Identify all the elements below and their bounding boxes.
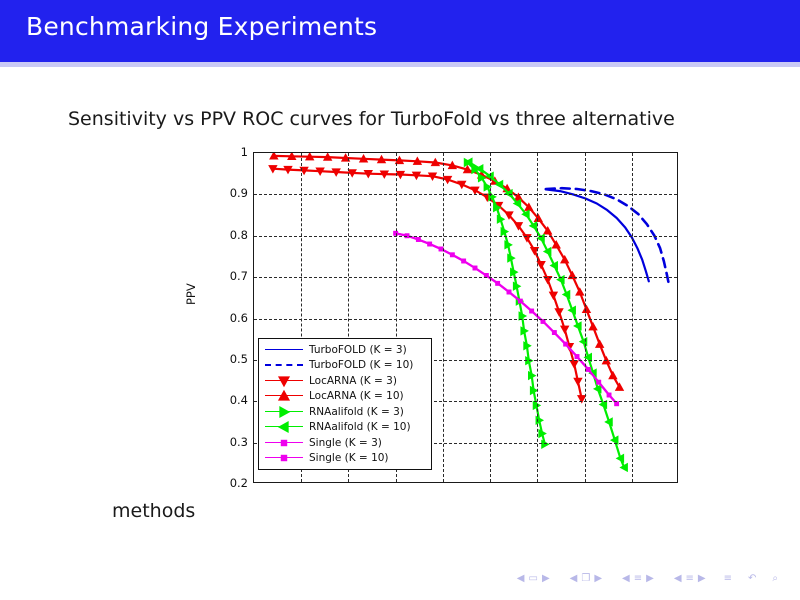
series-marker: [564, 342, 568, 346]
series-marker: [496, 281, 500, 285]
y-tick-label: 0.9: [230, 186, 248, 200]
beamer-navigation-bar[interactable]: ◀▭▶◀❐▶◀≡▶◀≡▶≡↶⌕: [0, 568, 800, 590]
series-marker: [542, 440, 550, 448]
section-nav-next-icon[interactable]: ▶: [698, 574, 706, 584]
series-rnaalifold-k-10: [465, 158, 628, 472]
legend-line: [265, 349, 303, 350]
series-marker: [576, 288, 584, 296]
frame-nav-prev-icon[interactable]: ◀: [570, 574, 578, 584]
legend-item[interactable]: Single (K = 3): [263, 435, 427, 451]
series-marker: [450, 253, 454, 257]
y-axis-tick-labels: 0.20.30.40.50.60.70.80.91: [212, 152, 248, 483]
nav-group-slide-nav[interactable]: ◀▭▶: [515, 574, 552, 584]
y-tick-label: 0.7: [230, 269, 248, 283]
legend-item[interactable]: TurboFOLD (K = 3): [263, 342, 427, 358]
slide-nav-next-icon[interactable]: ▶: [542, 574, 550, 584]
legend-item[interactable]: TurboFOLD (K = 10): [263, 358, 427, 374]
series-marker: [589, 323, 597, 331]
y-tick-label: 0.4: [230, 393, 248, 407]
series-turbofold-k-3: [546, 189, 649, 281]
chart-legend[interactable]: TurboFOLD (K = 3)TurboFOLD (K = 10)LocAR…: [258, 338, 432, 470]
series-marker: [537, 261, 545, 269]
series-marker: [570, 361, 578, 369]
series-marker: [602, 357, 610, 365]
search-icon[interactable]: ⌕: [772, 574, 778, 584]
slide-header-bar: Benchmarking Experiments: [0, 0, 800, 62]
legend-label: LocARNA (K = 3): [309, 376, 397, 387]
nav-group-section-nav[interactable]: ◀≡▶: [672, 574, 708, 584]
series-marker: [537, 234, 545, 242]
series-marker: [394, 231, 398, 235]
series-marker: [439, 247, 443, 251]
series-marker: [552, 330, 556, 334]
y-tick-label: 0.5: [230, 352, 248, 366]
series-marker: [541, 319, 545, 323]
legend-swatch: [263, 389, 305, 403]
series-marker: [555, 309, 563, 317]
y-tick-label: 0.6: [230, 311, 248, 325]
subsection-nav-next-icon[interactable]: ▶: [646, 574, 654, 584]
series-line: [469, 162, 624, 467]
series-line: [546, 189, 649, 281]
legend-item[interactable]: Single (K = 10): [263, 451, 427, 467]
legend-swatch: [263, 358, 305, 372]
legend-item[interactable]: LocARNA (K = 10): [263, 389, 427, 405]
legend-item[interactable]: RNAalifold (K = 3): [263, 404, 427, 420]
legend-swatch: [263, 374, 305, 388]
subsection-nav-glyph-icon: ≡: [634, 574, 642, 584]
series-rnaalifold-k-3: [464, 158, 549, 448]
legend-label: Single (K = 10): [309, 453, 389, 464]
legend-marker-triangle-up-icon: [277, 389, 291, 403]
series-marker: [544, 276, 552, 284]
presentation-slide: Benchmarking Experiments Sensitivity vs …: [0, 0, 800, 600]
legend-marker-triangle-down-icon: [277, 374, 291, 388]
legend-line: [265, 364, 303, 366]
series-marker: [615, 402, 619, 406]
legend-marker-square-icon: [277, 451, 291, 465]
series-turbofold-k-10: [546, 188, 669, 283]
legend-item[interactable]: LocARNA (K = 3): [263, 373, 427, 389]
series-line: [546, 188, 669, 283]
figure-title-line2: methods: [112, 500, 195, 522]
y-tick-label: 1: [241, 145, 248, 159]
back-icon[interactable]: ↶: [748, 574, 756, 584]
frame-nav-glyph-icon: ❐: [581, 574, 590, 584]
legend-swatch: [263, 343, 305, 357]
legend-swatch: [263, 451, 305, 465]
y-tick-label: 0.3: [230, 435, 248, 449]
legend-label: Single (K = 3): [309, 438, 382, 449]
roc-chart-figure: PPV 0.20.30.40.50.60.70.80.91 00.10.20.3…: [190, 140, 700, 530]
frame-nav-next-icon[interactable]: ▶: [594, 574, 602, 584]
series-marker: [530, 309, 534, 313]
y-tick-label: 0.8: [230, 228, 248, 242]
slide-header-title: Benchmarking Experiments: [26, 12, 377, 41]
series-marker: [549, 292, 557, 300]
series-marker: [575, 354, 579, 358]
series-marker: [507, 290, 511, 294]
legend-marker-triangle-left-icon: [277, 420, 291, 434]
series-marker: [574, 378, 582, 386]
series-marker: [561, 326, 569, 334]
legend-label: RNAalifold (K = 10): [309, 422, 411, 433]
legend-label: TurboFOLD (K = 3): [309, 345, 407, 356]
legend-item[interactable]: RNAalifold (K = 10): [263, 420, 427, 436]
series-marker: [607, 393, 611, 397]
nav-group-frame-nav[interactable]: ◀❐▶: [568, 574, 604, 584]
series-marker: [586, 367, 590, 371]
subsection-nav-prev-icon[interactable]: ◀: [622, 574, 630, 584]
series-marker: [428, 242, 432, 246]
y-axis-label: PPV: [184, 283, 198, 305]
series-marker: [582, 305, 590, 313]
legend-marker-square-icon: [277, 436, 291, 450]
series-marker: [405, 234, 409, 238]
nav-group-subsection-nav[interactable]: ◀≡▶: [620, 574, 656, 584]
series-marker: [462, 259, 466, 263]
series-marker: [416, 237, 420, 241]
legend-marker-triangle-right-icon: [277, 405, 291, 419]
legend-label: RNAalifold (K = 3): [309, 407, 404, 418]
legend-swatch: [263, 420, 305, 434]
series-marker: [473, 266, 477, 270]
slide-nav-glyph-icon: ▭: [528, 574, 537, 584]
series-marker: [609, 371, 617, 379]
legend-swatch: [263, 405, 305, 419]
series-marker: [484, 273, 488, 277]
y-tick-label: 0.2: [230, 476, 248, 490]
header-underline: [0, 62, 800, 67]
series-marker: [518, 299, 522, 303]
series-marker: [568, 271, 576, 279]
legend-label: TurboFOLD (K = 10): [309, 360, 413, 371]
legend-label: LocARNA (K = 10): [309, 391, 404, 402]
series-marker: [530, 247, 538, 255]
series-marker: [578, 395, 586, 403]
series-marker: [597, 380, 601, 384]
series-marker: [595, 340, 603, 348]
section-nav-glyph-icon: ≡: [686, 574, 694, 584]
legend-swatch: [263, 436, 305, 450]
slide-nav-prev-icon[interactable]: ◀: [517, 574, 525, 584]
figure-title-line1: Sensitivity vs PPV ROC curves for TurboF…: [68, 108, 768, 130]
section-nav-prev-icon[interactable]: ◀: [674, 574, 682, 584]
toc-icon[interactable]: ≡: [724, 574, 732, 584]
